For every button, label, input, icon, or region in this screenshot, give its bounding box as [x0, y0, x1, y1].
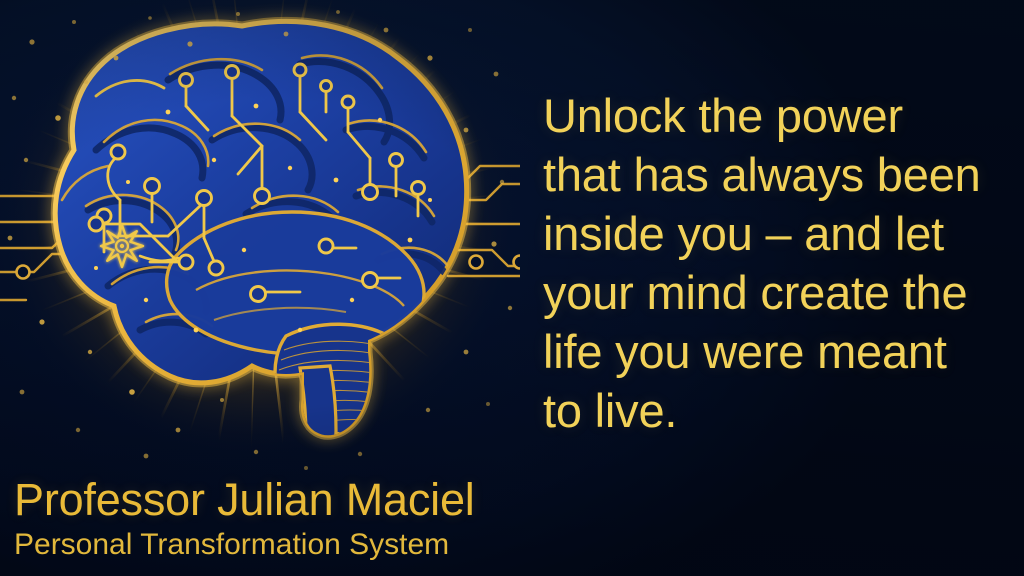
quote-line-3: inside you – and let	[543, 204, 1003, 263]
quote-line-5: life you were meant	[543, 322, 1003, 381]
quote-text: Unlock the power that has always been in…	[543, 86, 1003, 440]
byline: Professor Julian Maciel Personal Transfo…	[14, 474, 534, 564]
quote-line-4: your mind create the	[543, 263, 1003, 322]
quote-line-1: Unlock the power	[543, 86, 1003, 145]
presenter-subtitle: Personal Transformation System	[14, 526, 534, 564]
quote-line-6: to live.	[543, 381, 1003, 440]
quote-line-2: that has always been	[543, 145, 1003, 204]
presenter-name: Professor Julian Maciel	[14, 474, 534, 526]
brain-artwork	[0, 0, 520, 470]
slide-canvas: Unlock the power that has always been in…	[0, 0, 1024, 576]
